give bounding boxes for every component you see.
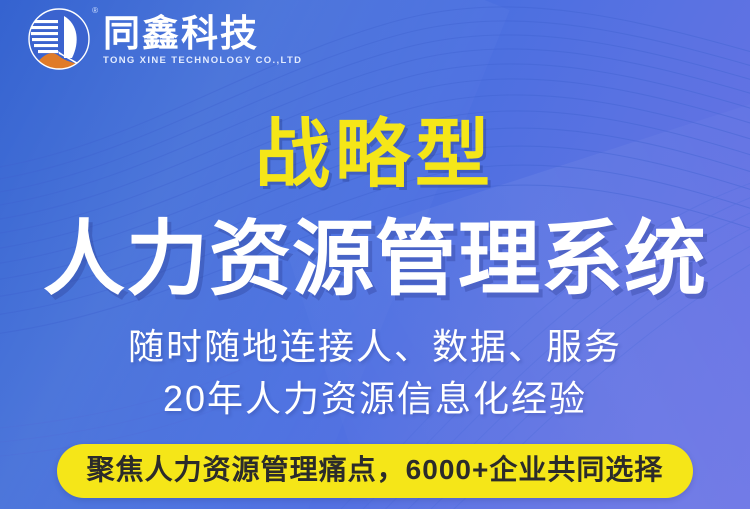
logo-lockup[interactable]: ® 同鑫科技 TONG XINE TECHNOLOGY CO.,LTD [28,8,302,70]
promo-banner: ® 同鑫科技 TONG XINE TECHNOLOGY CO.,LTD 战略型 … [0,0,750,509]
company-name-en: TONG XINE TECHNOLOGY CO.,LTD [103,55,302,66]
tongxin-circle-sail-logo-icon: ® [28,8,90,70]
subtitle-line-2: 20年人力资源信息化经验 [0,381,750,417]
headline-kicker: 战略型 [0,117,750,192]
company-name-cn: 同鑫科技 [103,14,302,54]
logo-text-block: 同鑫科技 TONG XINE TECHNOLOGY CO.,LTD [103,12,302,67]
headline-title: 人力资源管理系统 [0,219,750,301]
highlight-pill-wrapper: 聚焦人力资源管理痛点，6000+企业共同选择 [0,444,750,498]
subtitle-line-1: 随时随地连接人、数据、服务 [0,329,750,365]
highlight-pill[interactable]: 聚焦人力资源管理痛点，6000+企业共同选择 [57,444,694,498]
registered-trademark-icon: ® [92,7,98,15]
